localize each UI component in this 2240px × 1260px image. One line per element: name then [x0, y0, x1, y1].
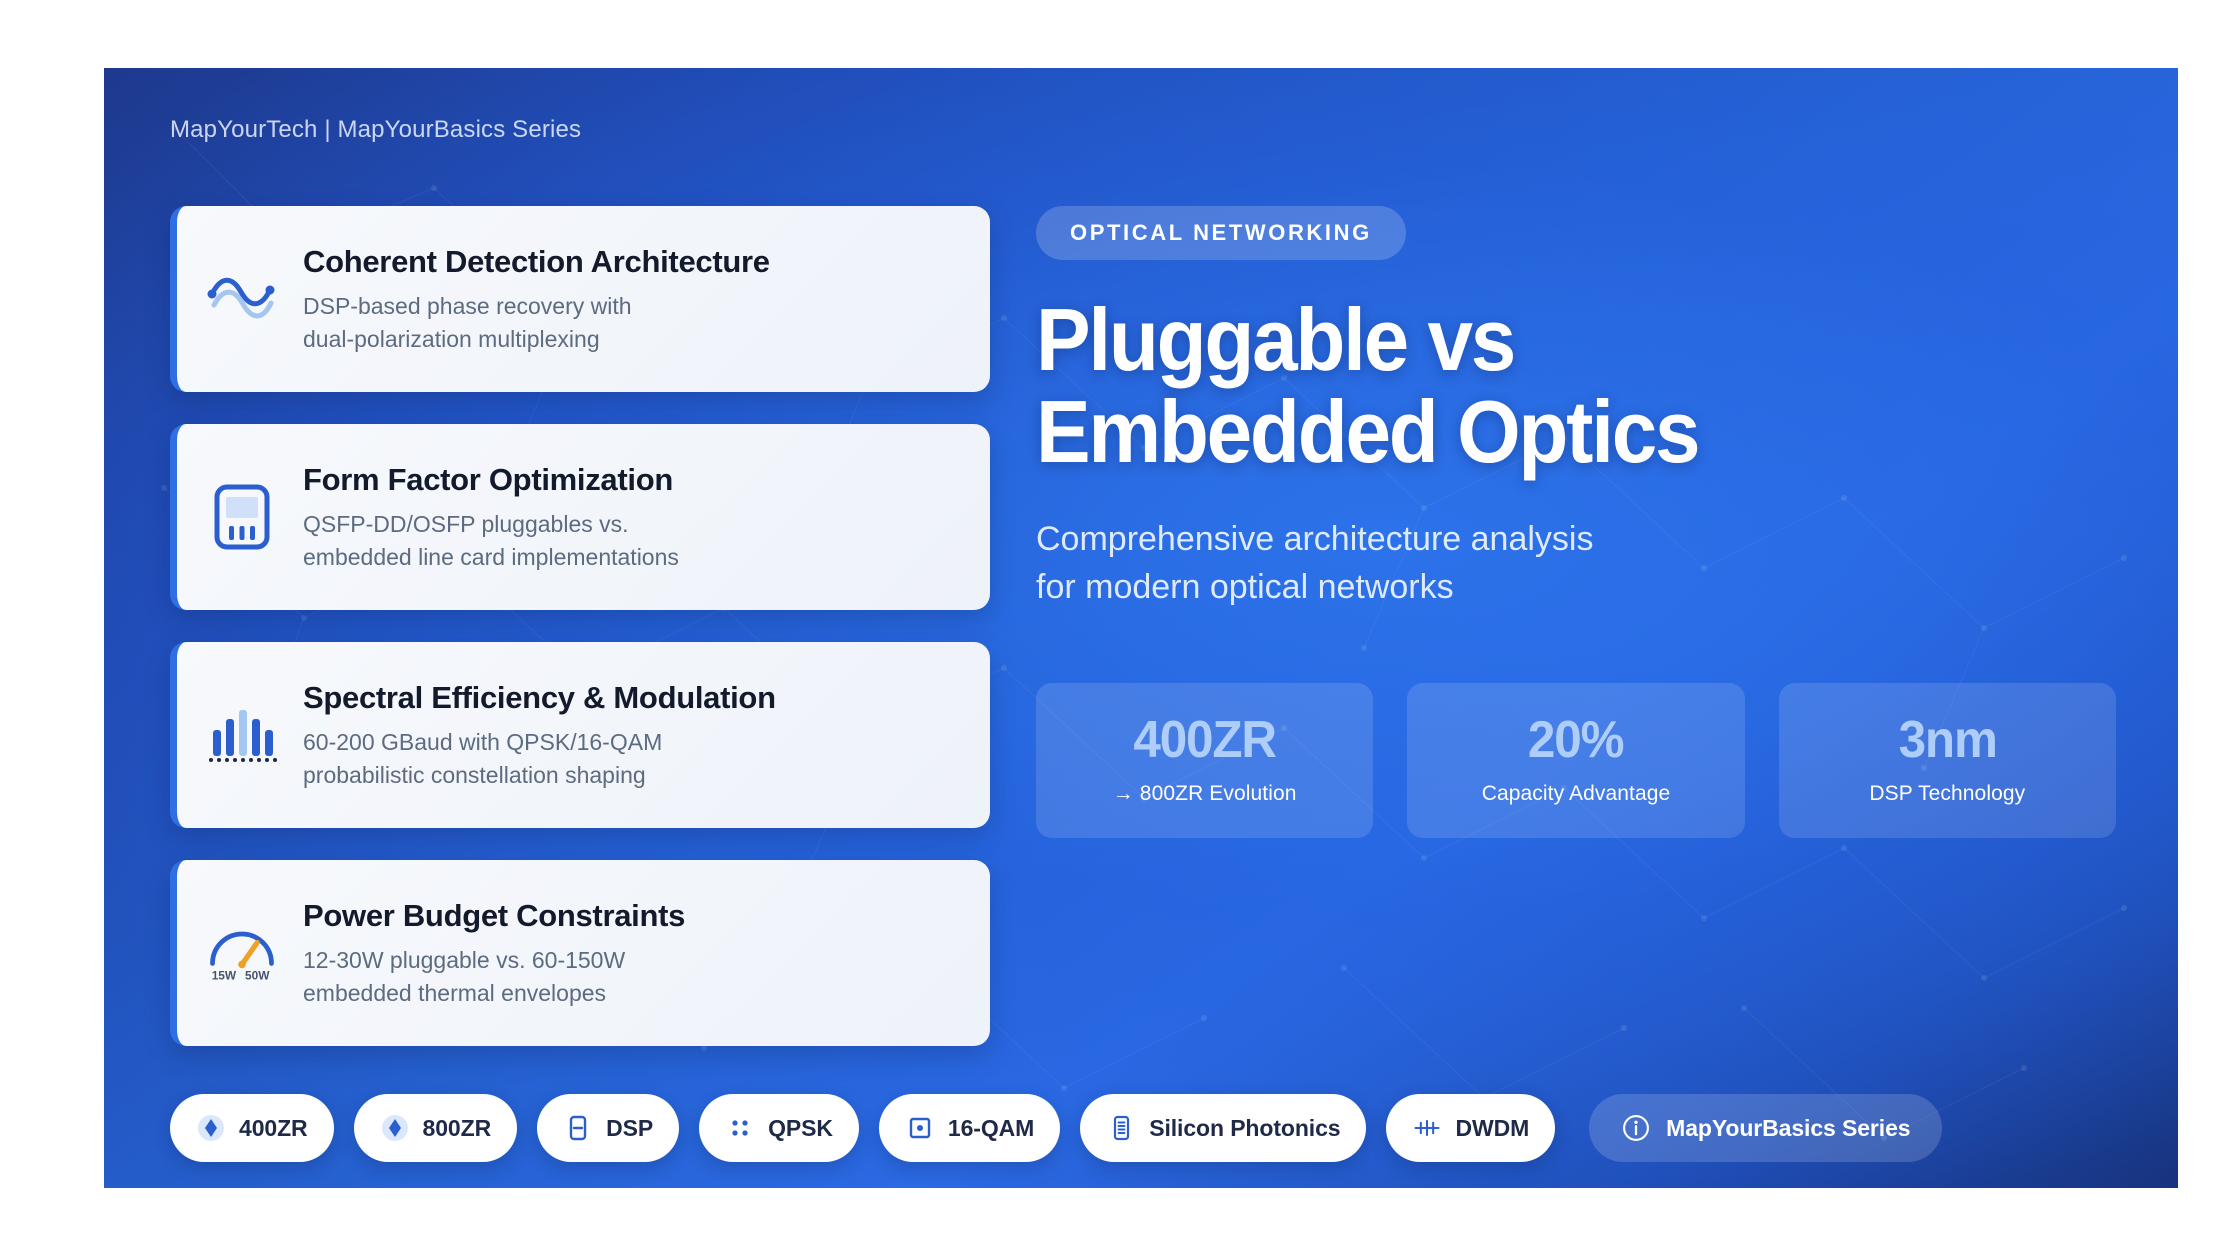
tag-label: DWDM — [1455, 1115, 1529, 1142]
hero-column: OPTICAL NETWORKING Pluggable vs Embedded… — [1036, 206, 2116, 838]
tag-label: 800ZR — [423, 1115, 492, 1142]
card-text-block: Coherent Detection Architecture DSP-base… — [303, 243, 960, 356]
stat-box-capacity: 20% Capacity Advantage — [1407, 683, 1744, 838]
tag-pill-800zr[interactable]: 800ZR — [354, 1094, 518, 1162]
stat-value: 400ZR — [1058, 713, 1352, 768]
feature-card-list: Coherent Detection Architecture DSP-base… — [170, 206, 990, 1078]
gauge-max-label: 50W — [245, 969, 270, 983]
dual-sine-wave-icon — [203, 260, 281, 338]
transceiver-module-icon — [203, 478, 281, 556]
qpsk-constellation-icon — [725, 1113, 755, 1143]
card-title: Power Budget Constraints — [303, 897, 960, 934]
tag-pill-silicon-photonics[interactable]: Silicon Photonics — [1080, 1094, 1366, 1162]
power-gauge-icon: 15W 50W — [203, 914, 281, 992]
photonics-chip-icon — [1106, 1113, 1136, 1143]
stat-box-400zr: 400ZR → 800ZR Evolution — [1036, 683, 1373, 838]
tag-label: DSP — [606, 1115, 653, 1142]
stat-value: 3nm — [1800, 713, 2094, 768]
spectrum-bars-icon — [203, 696, 281, 774]
feature-card-spectral-efficiency[interactable]: Spectral Efficiency & Modulation 60-200 … — [170, 642, 990, 828]
tag-label: Silicon Photonics — [1149, 1115, 1340, 1142]
card-title: Coherent Detection Architecture — [303, 243, 960, 280]
card-title: Form Factor Optimization — [303, 461, 960, 498]
series-pill-label: MapYourBasics Series — [1666, 1115, 1910, 1142]
stat-label: → 800ZR Evolution — [1050, 782, 1359, 806]
dsp-chip-icon — [563, 1113, 593, 1143]
card-text-block: Form Factor Optimization QSFP-DD/OSFP pl… — [303, 461, 960, 574]
gauge-min-label: 15W — [212, 969, 237, 983]
slide-canvas: MapYourTech | MapYourBasics Series Coher… — [104, 68, 2178, 1188]
feature-card-power-budget[interactable]: 15W 50W Power Budget Constraints 12-30W … — [170, 860, 990, 1046]
tag-bar: 400ZR 800ZR DSP — [170, 1094, 1942, 1162]
stat-box-dsp-node: 3nm DSP Technology — [1779, 683, 2116, 838]
tag-pill-dwdm[interactable]: DWDM — [1386, 1094, 1555, 1162]
stat-value: 20% — [1429, 713, 1723, 768]
stat-label: DSP Technology — [1793, 782, 2102, 806]
diamond-badge-icon — [380, 1113, 410, 1143]
card-title: Spectral Efficiency & Modulation — [303, 679, 960, 716]
dwdm-spectrum-icon — [1412, 1113, 1442, 1143]
page-title: Pluggable vs Embedded Optics — [1036, 294, 2040, 479]
tag-pill-qpsk[interactable]: QPSK — [699, 1094, 859, 1162]
card-description: 60-200 GBaud with QPSK/16-QAM probabilis… — [303, 726, 960, 791]
card-description: 12-30W pluggable vs. 60-150W embedded th… — [303, 944, 960, 1009]
series-pill[interactable]: MapYourBasics Series — [1589, 1094, 1942, 1162]
card-text-block: Spectral Efficiency & Modulation 60-200 … — [303, 679, 960, 792]
stats-row: 400ZR → 800ZR Evolution 20% Capacity Adv… — [1036, 683, 2116, 838]
tag-pill-400zr[interactable]: 400ZR — [170, 1094, 334, 1162]
feature-card-form-factor[interactable]: Form Factor Optimization QSFP-DD/OSFP pl… — [170, 424, 990, 610]
info-circle-icon — [1621, 1113, 1651, 1143]
category-badge: OPTICAL NETWORKING — [1036, 206, 1406, 260]
brand-breadcrumb: MapYourTech | MapYourBasics Series — [170, 116, 581, 144]
stat-label: Capacity Advantage — [1421, 782, 1730, 806]
tag-label: 16-QAM — [948, 1115, 1034, 1142]
qam-square-icon — [905, 1113, 935, 1143]
tag-label: 400ZR — [239, 1115, 308, 1142]
feature-card-coherent-detection[interactable]: Coherent Detection Architecture DSP-base… — [170, 206, 990, 392]
card-description: QSFP-DD/OSFP pluggables vs. embedded lin… — [303, 508, 960, 573]
diamond-badge-icon — [196, 1113, 226, 1143]
card-description: DSP-based phase recovery with dual-polar… — [303, 290, 960, 355]
tag-pill-dsp[interactable]: DSP — [537, 1094, 679, 1162]
tag-pill-16qam[interactable]: 16-QAM — [879, 1094, 1060, 1162]
card-text-block: Power Budget Constraints 12-30W pluggabl… — [303, 897, 960, 1010]
page-subtitle: Comprehensive architecture analysis for … — [1036, 515, 2116, 612]
tag-label: QPSK — [768, 1115, 833, 1142]
